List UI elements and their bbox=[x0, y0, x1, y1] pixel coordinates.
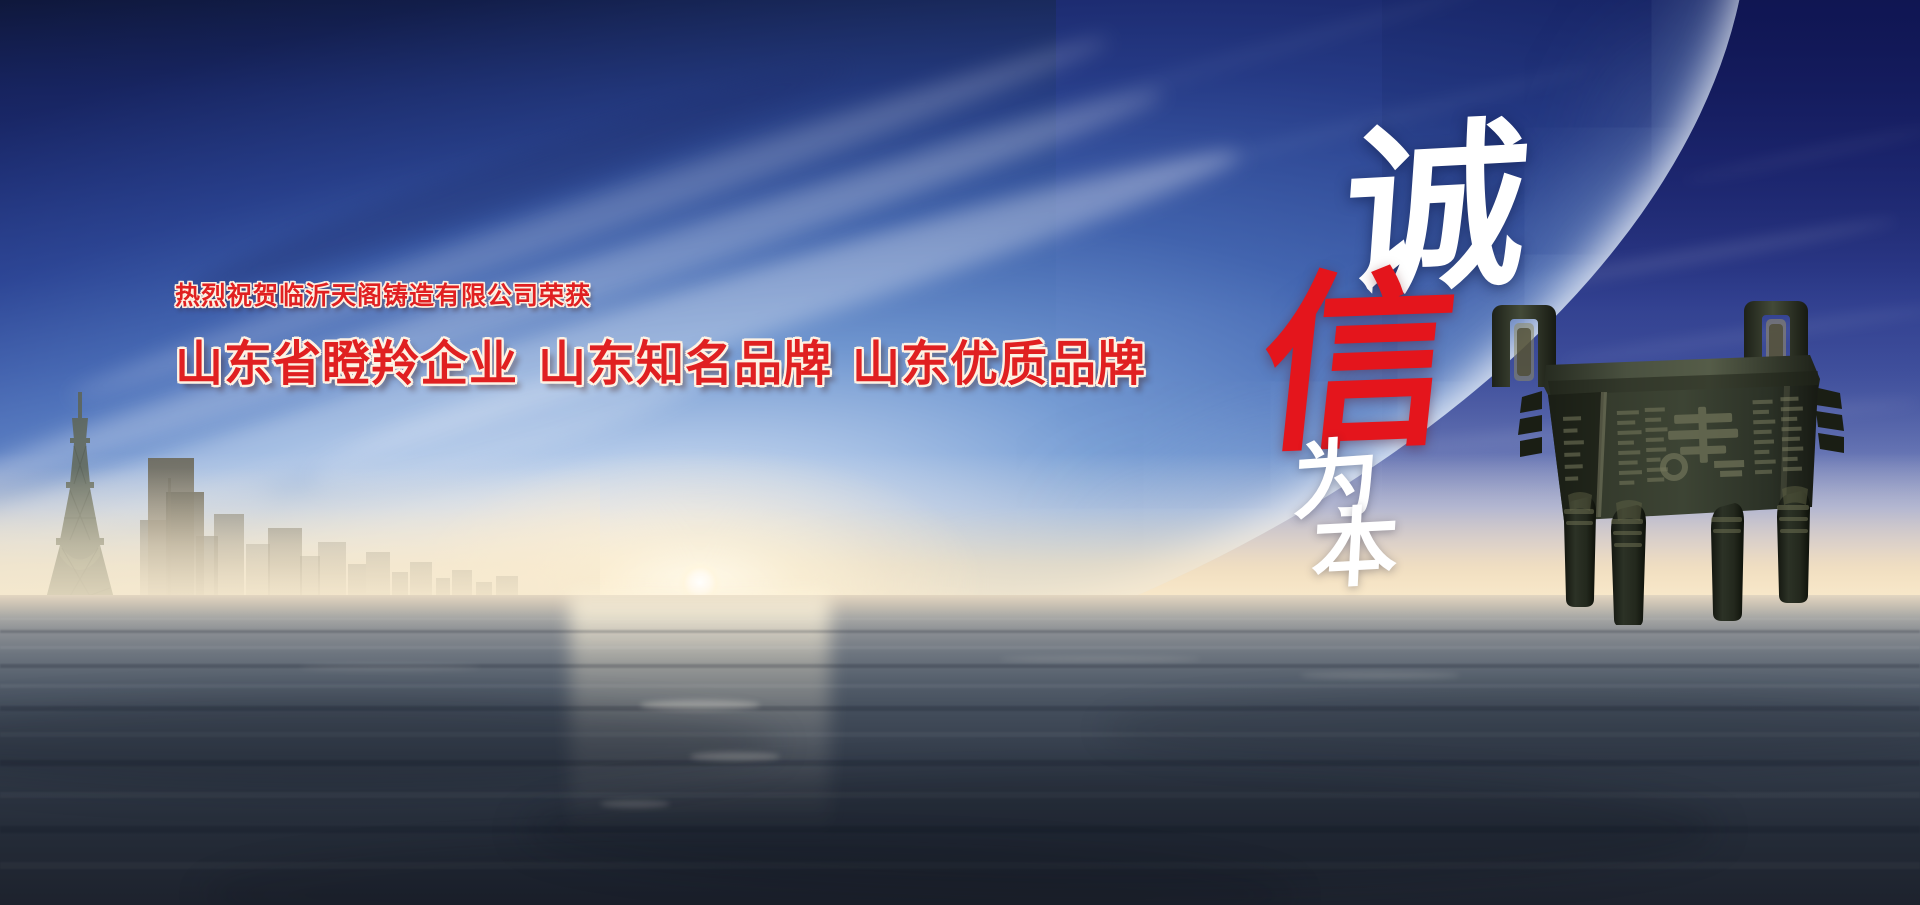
ding-flange-right bbox=[1814, 387, 1844, 453]
water-glint bbox=[640, 700, 760, 710]
water-glint bbox=[690, 752, 780, 761]
water-glint bbox=[300, 664, 480, 670]
wave-line bbox=[0, 664, 1920, 668]
wave-line bbox=[0, 630, 1920, 633]
headline-block: 热烈祝贺临沂天阁铸造有限公司荣获 山东省瞪羚企业山东知名品牌山东优质品牌 bbox=[175, 276, 1075, 394]
building-antenna bbox=[168, 478, 171, 610]
bronze-ding-vessel bbox=[1468, 295, 1888, 625]
promotional-banner: 热烈祝贺临沂天阁铸造有限公司荣获 山东省瞪羚企业山东知名品牌山东优质品牌 诚 信… bbox=[0, 0, 1920, 905]
wave-line bbox=[0, 684, 1920, 688]
award-famous-brand: 山东知名品牌 bbox=[538, 338, 832, 391]
award-quality-brand: 山东优质品牌 bbox=[852, 338, 1146, 391]
calligraphy-ben: 本 bbox=[1310, 504, 1401, 594]
wave-line bbox=[0, 646, 1920, 649]
water-glint bbox=[1300, 672, 1460, 679]
water-glint bbox=[1000, 656, 1200, 662]
ding-flange-left bbox=[1518, 391, 1542, 457]
city-skyline bbox=[0, 380, 560, 610]
awards-line: 山东省瞪羚企业山东知名品牌山东优质品牌 bbox=[175, 324, 1075, 394]
award-gazelle-enterprise: 山东省瞪羚企业 bbox=[175, 338, 518, 391]
eiffel-tower bbox=[20, 388, 140, 610]
water-glint bbox=[600, 800, 670, 808]
congratulation-line: 热烈祝贺临沂天阁铸造有限公司荣获 bbox=[175, 276, 1075, 312]
building bbox=[166, 492, 204, 610]
